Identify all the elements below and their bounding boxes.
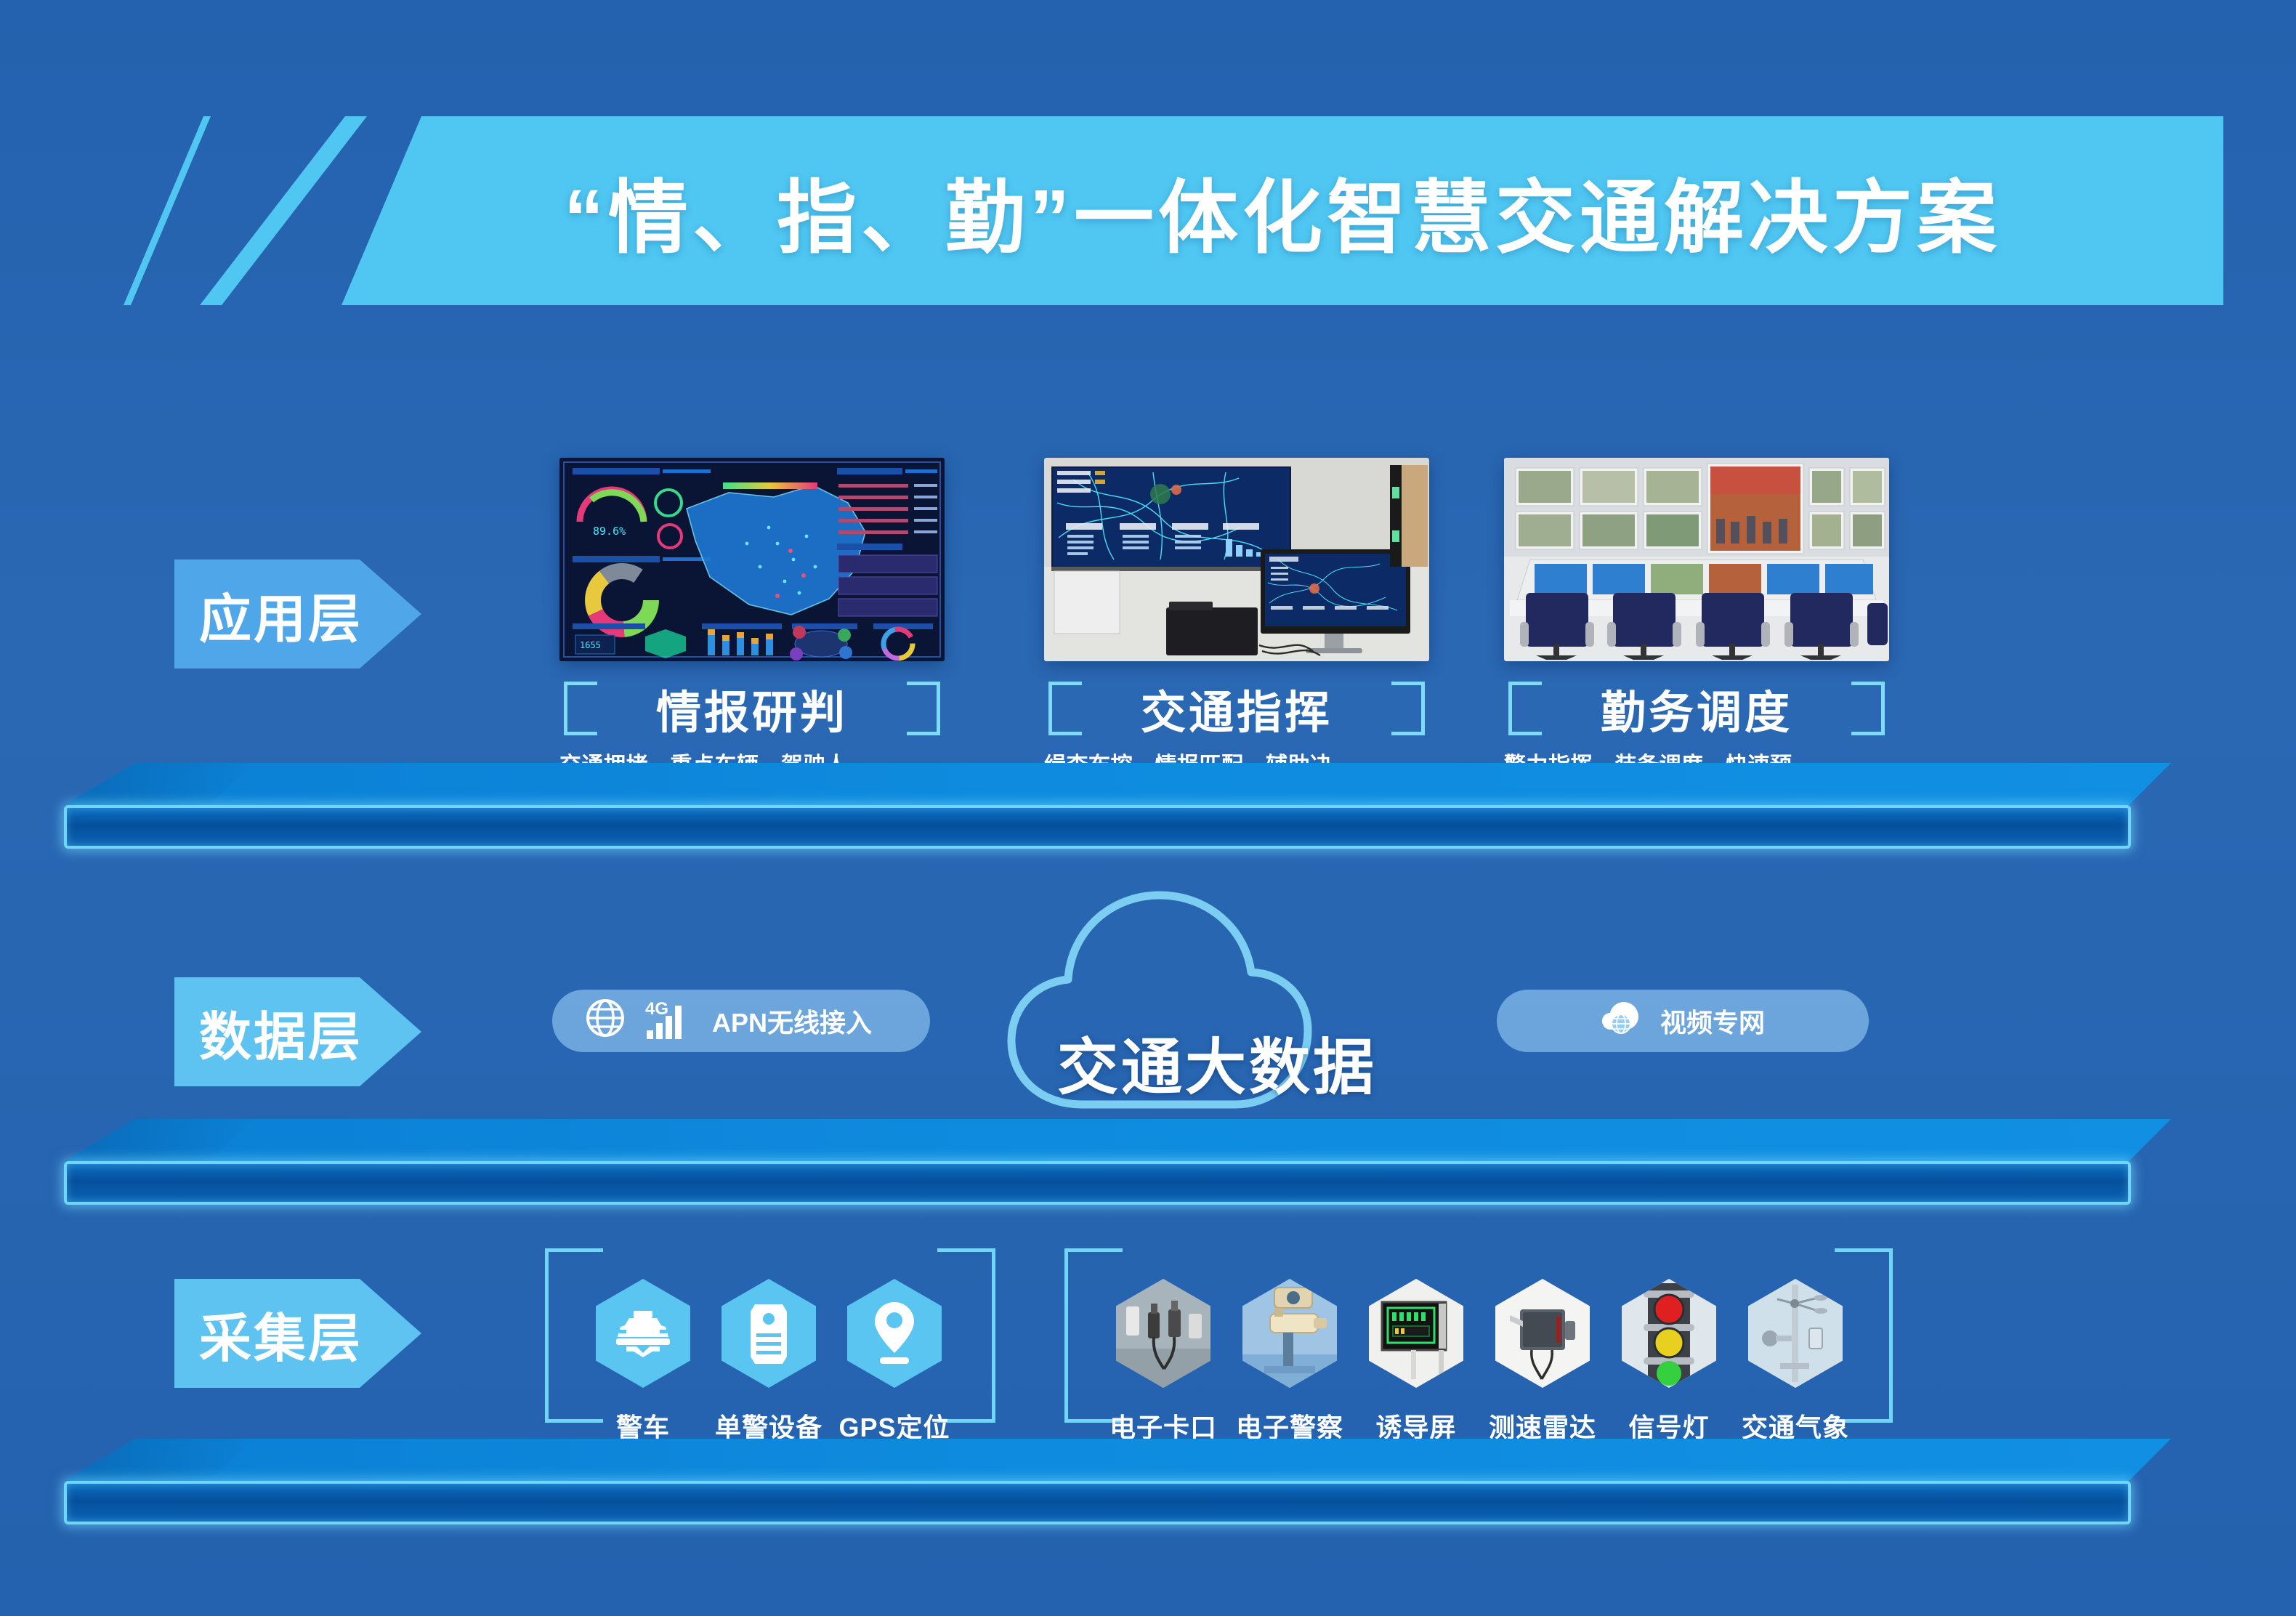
collection-item-checkpoint[interactable]: 电子卡口 <box>1101 1279 1225 1445</box>
apn-wireless-label: APN无线接入 <box>712 1002 872 1040</box>
dashboard-illustration: 89.6% <box>559 458 945 661</box>
signal-bars-icon: 4G <box>645 995 693 1047</box>
banner-slash-1 <box>124 116 211 305</box>
platform-top-surface <box>64 1439 2171 1481</box>
bracket-left-icon <box>1048 682 1082 735</box>
command-room-illustration <box>1044 458 1429 661</box>
app-card-duty-dispatch[interactable]: 勤务调度 警力指挥、装备调度、快速预 判、业务自治、闭环可控 <box>1504 458 1889 813</box>
collection-item-speed-radar[interactable]: 测速雷达 <box>1481 1279 1604 1445</box>
data-dashboard-screenshot: 89.6% <box>559 458 945 661</box>
big-data-label: 交通大数据 <box>995 1019 1439 1107</box>
svg-text:89.6%: 89.6% <box>593 525 626 538</box>
video-wall-illustration <box>1504 458 1889 661</box>
collection-item-traffic-light[interactable]: 信号灯 <box>1607 1279 1731 1445</box>
platform-front-face <box>64 1161 2131 1205</box>
platform-top-surface <box>64 763 2171 805</box>
layer-tag-collection: 采集层 <box>174 1279 421 1388</box>
layer-tag-data-label: 数据层 <box>199 994 363 1070</box>
page-title: “情、指、勤”一体化智慧交通解决方案 <box>341 116 2223 305</box>
bracket-top-left <box>545 1248 603 1252</box>
bracket-right-icon <box>1391 682 1425 735</box>
bracket-left-icon <box>1508 682 1542 735</box>
layer-tag-application-label: 应用层 <box>199 576 363 653</box>
svg-text:1655: 1655 <box>580 640 601 650</box>
globe-icon <box>584 997 626 1046</box>
svg-text:4G: 4G <box>645 999 668 1019</box>
app-card-title-row: 交通指挥 <box>1044 677 1429 740</box>
platform-front-face <box>64 1481 2131 1524</box>
platform-data <box>64 1119 2171 1205</box>
speed-radar-photo-icon <box>1495 1279 1590 1388</box>
app-card-title-row: 勤务调度 <box>1504 677 1889 740</box>
bracket-right-icon <box>907 682 940 735</box>
video-private-network-label: 视频专网 <box>1660 1002 1765 1040</box>
police-car-icon <box>596 1279 690 1388</box>
platform-top-surface <box>64 1119 2171 1161</box>
app-card-title: 情报研判 <box>656 676 848 741</box>
platform-application <box>64 763 2171 849</box>
app-card-title: 交通指挥 <box>1141 676 1333 741</box>
collection-item-single-police-device[interactable]: 单警设备 <box>707 1279 830 1445</box>
bracket-top-right <box>937 1248 995 1252</box>
bracket-top-left <box>1064 1248 1123 1252</box>
platform-collection <box>64 1439 2171 1524</box>
body-device-icon <box>721 1279 816 1388</box>
bracket-top-right <box>1835 1248 1893 1252</box>
collection-item-gps[interactable]: GPS定位 <box>833 1279 956 1445</box>
video-private-network-pill[interactable]: 视频专网 <box>1497 990 1869 1052</box>
map-pin-icon <box>847 1279 942 1388</box>
app-card-title: 勤务调度 <box>1601 676 1792 741</box>
platform-top-shadow <box>64 1119 253 1161</box>
guidance-screen-photo-icon <box>1369 1279 1463 1388</box>
cloud-globe-icon <box>1601 998 1641 1045</box>
collection-item-enforcement-camera[interactable]: 电子警察 <box>1228 1279 1351 1445</box>
app-card-intelligence[interactable]: 89.6% <box>559 458 945 813</box>
platform-front-face <box>64 805 2131 849</box>
bracket-right-icon <box>1851 682 1885 735</box>
bracket-left-vertical <box>545 1248 549 1423</box>
bracket-right-vertical <box>1889 1248 1893 1423</box>
platform-top-shadow <box>64 763 253 805</box>
big-data-cloud: 交通大数据 <box>995 865 1439 1126</box>
weather-station-photo-icon <box>1748 1279 1843 1388</box>
app-card-command[interactable]: 交通指挥 缉查布控、情报匹配、辅助决 策、信号控制、预案分级 <box>1044 458 1429 813</box>
title-banner: “情、指、勤”一体化智慧交通解决方案 <box>124 116 2223 305</box>
collection-item-traffic-weather[interactable]: 交通气象 <box>1734 1279 1857 1445</box>
layer-tag-application: 应用层 <box>174 559 421 668</box>
layer-tag-data: 数据层 <box>174 977 421 1086</box>
collection-item-police-car[interactable]: 警车 <box>581 1279 705 1445</box>
enforcement-camera-photo-icon <box>1242 1279 1337 1388</box>
checkpoint-photo-icon <box>1116 1279 1210 1388</box>
traffic-light-photo-icon <box>1622 1279 1716 1388</box>
app-card-title-row: 情报研判 <box>559 677 945 740</box>
platform-top-shadow <box>64 1439 253 1481</box>
bracket-left-vertical <box>1064 1248 1068 1423</box>
apn-wireless-pill[interactable]: 4G APN无线接入 <box>552 990 930 1052</box>
layer-tag-collection-label: 采集层 <box>199 1296 363 1372</box>
collection-item-guidance-screen[interactable]: 诱导屏 <box>1354 1279 1478 1445</box>
bracket-left-icon <box>564 682 597 735</box>
video-wall-room-photo <box>1504 458 1889 661</box>
command-center-photo <box>1044 458 1429 661</box>
bracket-right-vertical <box>992 1248 995 1423</box>
